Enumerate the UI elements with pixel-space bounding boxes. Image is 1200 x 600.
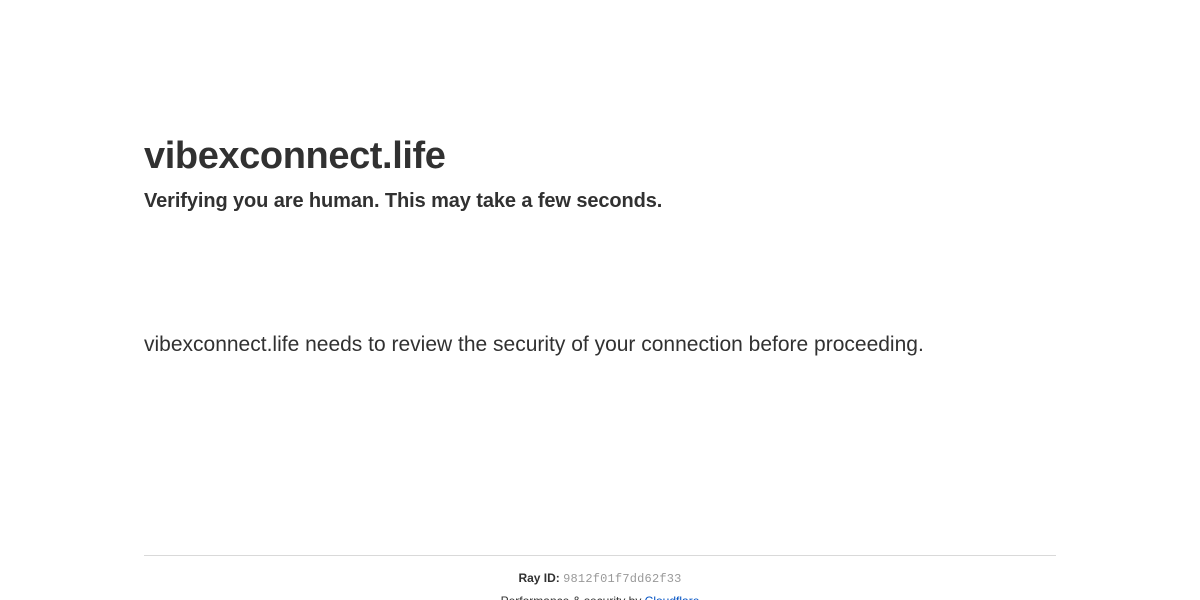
footer-divider bbox=[144, 555, 1056, 556]
page-title: vibexconnect.life bbox=[144, 133, 1056, 179]
page-footer: Ray ID: 9812f01f7dd62f33 Performance & s… bbox=[144, 555, 1056, 600]
cloudflare-link[interactable]: Cloudflare bbox=[645, 594, 700, 600]
security-review-message: vibexconnect.life needs to review the se… bbox=[144, 327, 944, 363]
attribution-prefix: Performance & security by bbox=[501, 594, 645, 600]
challenge-page: vibexconnect.life Verifying you are huma… bbox=[0, 0, 1200, 600]
challenge-content: vibexconnect.life Verifying you are huma… bbox=[144, 0, 1056, 363]
attribution-row: Performance & security by Cloudflare bbox=[144, 594, 1056, 600]
ray-id-value: 9812f01f7dd62f33 bbox=[563, 572, 681, 586]
verification-status-text: Verifying you are human. This may take a… bbox=[144, 187, 1056, 215]
ray-id-row: Ray ID: 9812f01f7dd62f33 bbox=[144, 571, 1056, 587]
turnstile-challenge-widget[interactable] bbox=[144, 237, 444, 311]
ray-id-label: Ray ID: bbox=[518, 571, 559, 585]
